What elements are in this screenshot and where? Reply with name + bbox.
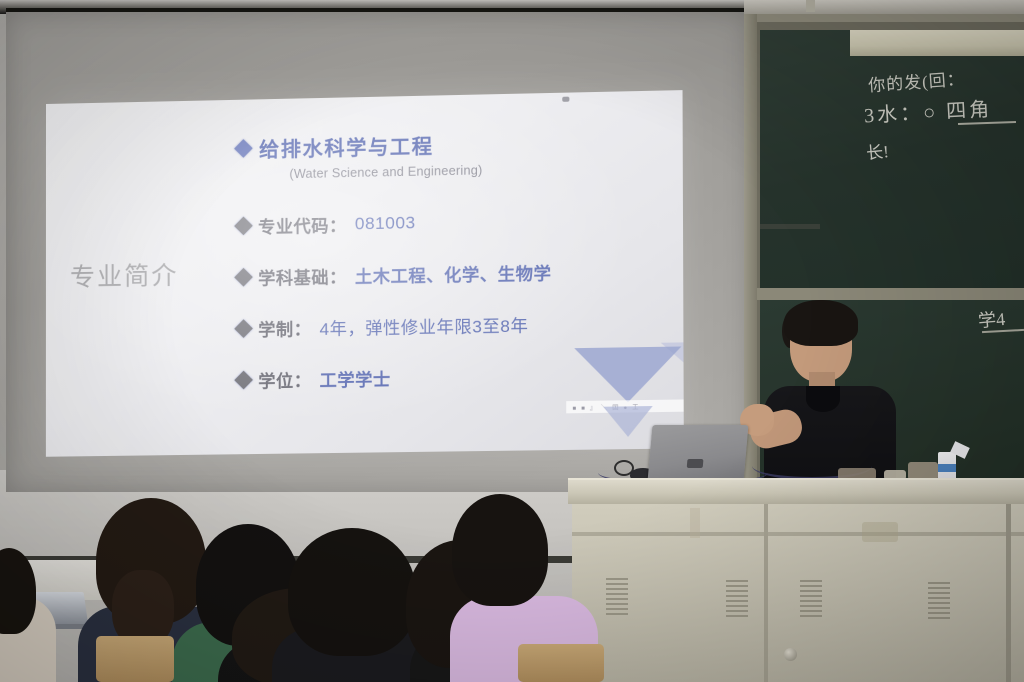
bullet-value: 土木工程、化学、生物学: [355, 259, 552, 288]
bottle-label: [938, 464, 956, 472]
cabinet-vent-2: [726, 580, 748, 618]
laptop-logo: [687, 459, 704, 468]
projector-hotspot: [562, 97, 569, 102]
slide-side-label: 专业简介: [70, 255, 221, 294]
chalk-writing-lower: 学4: [977, 305, 1006, 333]
bullet-label: 学制：: [258, 315, 311, 341]
triangle-large-shape: [574, 346, 681, 403]
chalk-rail: [760, 224, 820, 229]
podium-door-seam: [764, 504, 768, 682]
bullet-item-duration: 学制： 4年，弹性修业年限3至8年: [237, 309, 676, 341]
projected-slide: 专业简介 给排水科学与工程 (Water Science and Enginee…: [46, 90, 684, 457]
podium-cabinet: [572, 504, 1024, 682]
bullet-label: 学科基础：: [258, 263, 347, 290]
podium-lip: [572, 532, 1024, 536]
cabinet-smudge-2: [690, 508, 700, 538]
slide-title: 给排水科学与工程: [259, 130, 434, 163]
blackboard-valance: [850, 30, 1024, 56]
audience-chair-back-2: [96, 636, 174, 682]
chalk-writing-line-3: 长!: [865, 137, 890, 164]
cabinet-vent-1: [606, 578, 628, 616]
diamond-bullet-icon: [234, 371, 253, 390]
presenter: [762, 300, 902, 490]
diamond-bullet-icon: [234, 268, 253, 287]
slide-subtitle: (Water Science and Engineering): [289, 159, 675, 181]
bullet-value: 4年，弹性修业年限3至8年: [319, 311, 528, 340]
ceiling-bracket: [806, 0, 815, 12]
blackboard-divider: [752, 288, 1024, 300]
slide-title-row: 给排水科学与工程: [237, 125, 676, 163]
diamond-bullet-icon: [234, 139, 253, 157]
cabinet-vent-4: [928, 582, 950, 620]
diamond-bullet-icon: [234, 217, 253, 236]
cabinet-vent-3: [800, 580, 822, 618]
audience-chair-back: [518, 644, 604, 682]
cabinet-smudge: [862, 522, 898, 542]
bullet-label: 学位：: [258, 366, 311, 392]
presenter-hair: [784, 300, 858, 346]
laptop-screen: [648, 425, 749, 481]
presenter-collar: [806, 386, 840, 412]
bullet-label: 专业代码：: [258, 211, 347, 238]
bullet-value: 081003: [355, 213, 416, 234]
podium-right-edge: [1006, 504, 1011, 682]
cabinet-lock: [784, 648, 797, 661]
bullet-value: 工学学士: [320, 365, 391, 391]
classroom-scene: 专业简介 给排水科学与工程 (Water Science and Enginee…: [0, 0, 1024, 682]
bullet-item-major-code: 专业代码： 081003: [237, 205, 676, 239]
diamond-bullet-icon: [234, 319, 253, 338]
triangle-small-shape: [603, 406, 653, 437]
bullet-item-discipline-basis: 学科基础： 土木工程、化学、生物学: [237, 257, 676, 290]
podium-desktop: [568, 478, 1024, 504]
